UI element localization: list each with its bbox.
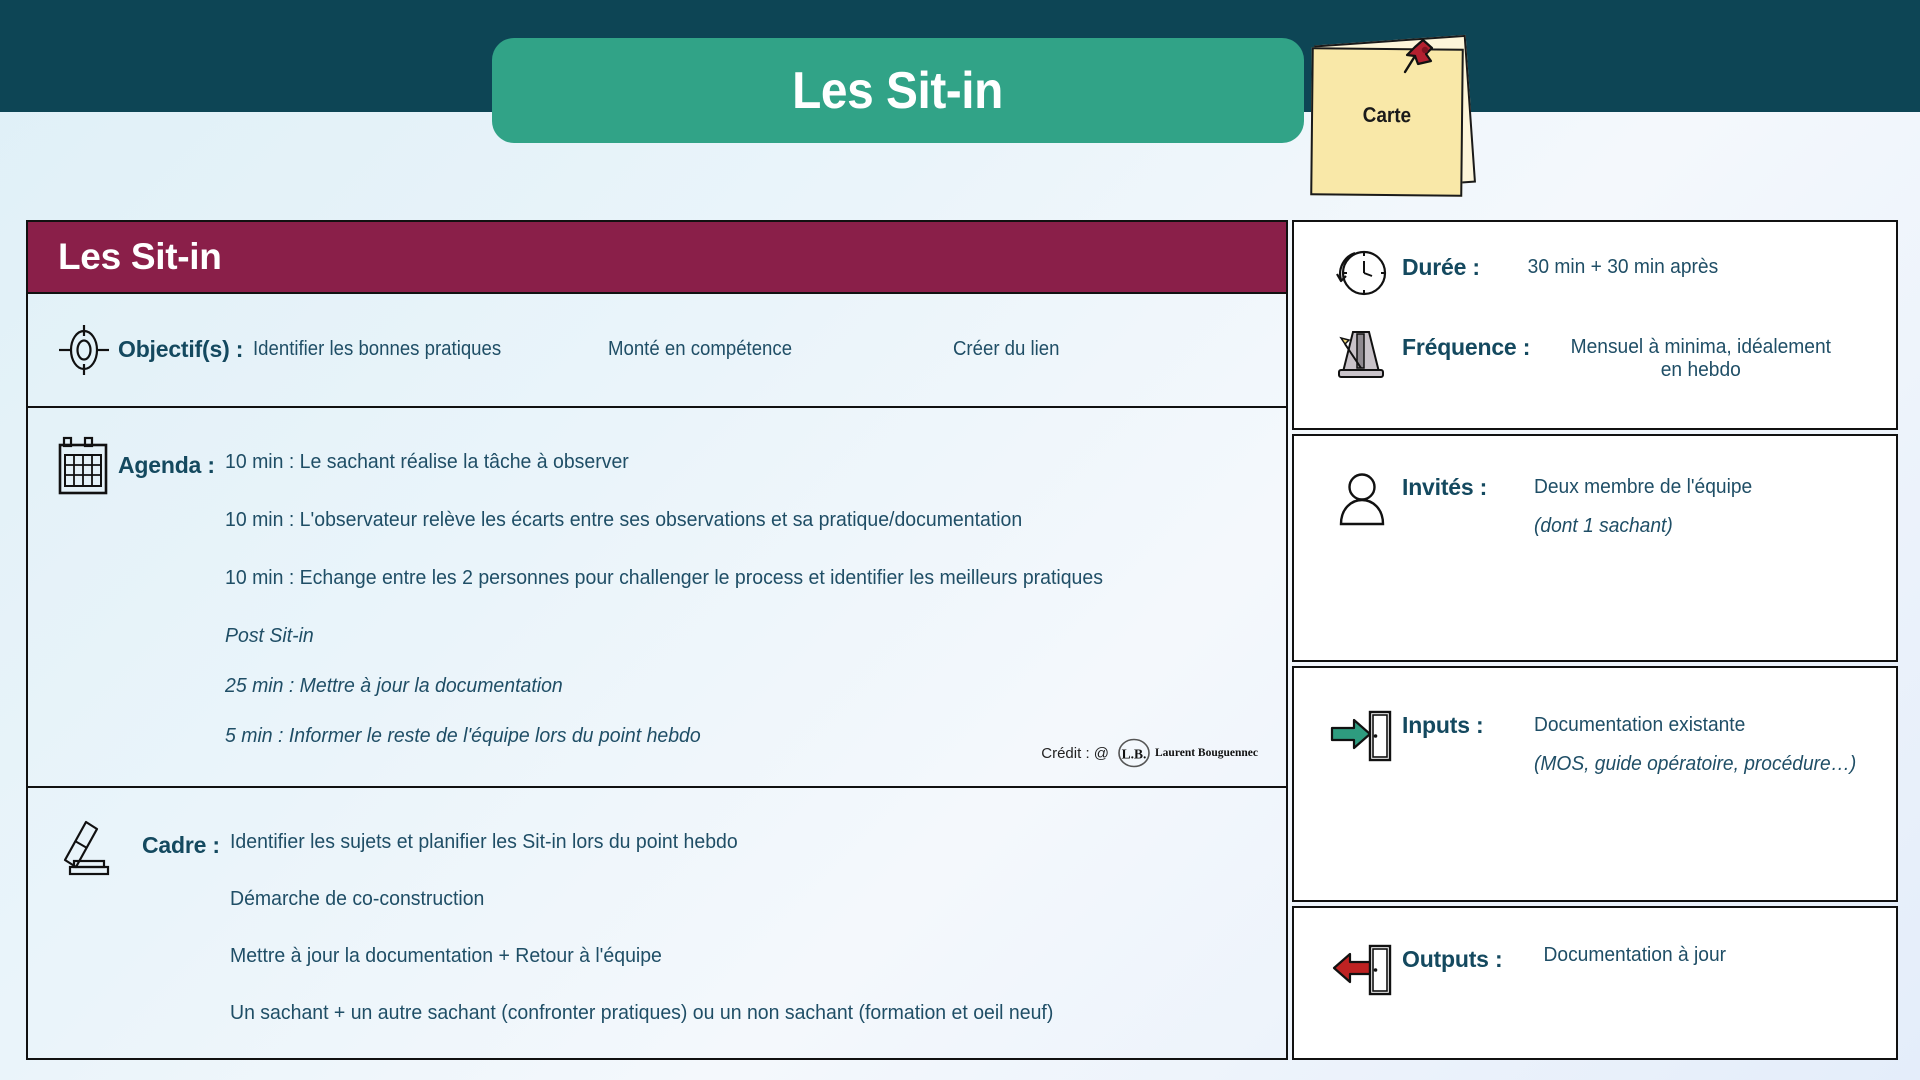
cadre-label: Cadre : [118,816,220,1058]
invites-row: Invités : Deux membre de l'équipe (dont … [1322,470,1896,538]
outputs-value: Documentation à jour [1532,942,1726,967]
agenda-post-heading: Post Sit-in [225,624,1233,648]
sticky-note: Carte [1305,28,1495,200]
calendar-icon [50,436,118,786]
inputs-panel: Inputs : Documentation existante (MOS, g… [1292,666,1898,902]
inputs-note: (MOS, guide opératoire, procédure…) [1534,753,1856,776]
agenda-post-line: 25 min : Mettre à jour la documentation [225,674,1233,698]
agenda-label: Agenda : [118,436,215,786]
cadre-section: Cadre : Identifier les sujets et planifi… [26,788,1288,1060]
objectif-item: Identifier les bonnes pratiques [253,338,583,361]
gavel-icon [50,816,118,1058]
invites-note: (dont 1 sachant) [1534,515,1752,538]
cadre-line: Un sachant + un autre sachant (confronte… [230,1001,1233,1025]
objectifs-list: Identifier les bonnes pratiques Monté en… [243,338,1286,361]
agenda-line: 10 min : Echange entre les 2 personnes p… [225,566,1233,590]
outputs-row: Outputs : Documentation à jour [1322,942,1896,998]
duree-value: 30 min + 30 min après [1520,244,1718,279]
left-column: Les Sit-in Objectif(s) : Identifi [26,220,1288,1060]
credit-author: Laurent Bouguennec [1155,747,1258,759]
invites-values: Deux membre de l'équipe (dont 1 sachant) [1522,470,1761,538]
cadre-line: Identifier les sujets et planifier les S… [230,816,1233,854]
inputs-value: Documentation existante [1534,714,1856,737]
agenda-line: 10 min : L'observateur relève les écarts… [225,508,1233,532]
door-out-icon [1322,942,1402,998]
inputs-row: Inputs : Documentation existante (MOS, g… [1322,708,1896,776]
objectif-item: Monté en compétence [608,338,929,361]
objectifs-label: Objectif(s) : [118,336,243,363]
title-banner: Les Sit-in [492,38,1304,143]
cadre-lines: Identifier les sujets et planifier les S… [220,816,1286,1058]
door-in-icon [1322,708,1402,764]
target-icon [50,323,118,377]
objectif-item: Créer du lien [953,338,1059,361]
agenda-section: Agenda : 10 min : Le sachant réalise la … [26,408,1288,788]
card-title: Les Sit-in [58,236,222,278]
duree-label: Durée : [1402,254,1480,280]
inputs-values: Documentation existante (MOS, guide opér… [1522,708,1870,776]
outputs-label: Outputs : [1402,946,1502,972]
cadre-line: Mettre à jour la documentation + Retour … [230,944,1233,968]
card-title-bar: Les Sit-in [26,220,1288,294]
frequence-label: Fréquence : [1402,334,1530,360]
duree-frequence-panel: Durée : 30 min + 30 min après Fréquence [1292,220,1898,430]
frequence-row: Fréquence : Mensuel à minima, idéalement… [1322,324,1896,384]
agenda-lines: 10 min : Le sachant réalise la tâche à o… [215,436,1286,786]
credit-logo: L.B. Laurent Bouguennec [1117,738,1258,768]
agenda-line: 10 min : Le sachant réalise la tâche à o… [225,436,1233,474]
sticky-note-label: Carte [1363,104,1412,129]
inputs-label: Inputs : [1402,712,1483,738]
invites-panel: Invités : Deux membre de l'équipe (dont … [1292,434,1898,662]
outputs-panel: Outputs : Documentation à jour [1292,906,1898,1060]
cadre-line: Démarche de co-construction [230,887,1233,911]
credit-prefix: Crédit : @ [1041,745,1109,762]
pushpin-icon [1401,34,1443,82]
slide-canvas: Les Sit-in Carte Les Sit-in [0,0,1920,1080]
person-icon [1322,470,1402,532]
frequence-value: Mensuel à minima, idéalement en hebdo [1552,324,1840,382]
credit-line: Crédit : @ L.B. Laurent Bouguennec [1041,738,1258,768]
card-board: Les Sit-in Objectif(s) : Identifi [26,220,1898,1060]
banner-title: Les Sit-in [793,65,1004,117]
right-column: Durée : 30 min + 30 min après Fréquence [1292,220,1898,1060]
duree-row: Durée : 30 min + 30 min après [1322,244,1896,306]
invites-value: Deux membre de l'équipe [1534,476,1752,499]
objectifs-section: Objectif(s) : Identifier les bonnes prat… [26,294,1288,408]
invites-label: Invités : [1402,474,1487,500]
clock-icon [1322,244,1402,306]
metronome-icon [1322,324,1402,384]
svg-text:L.B.: L.B. [1122,747,1147,762]
